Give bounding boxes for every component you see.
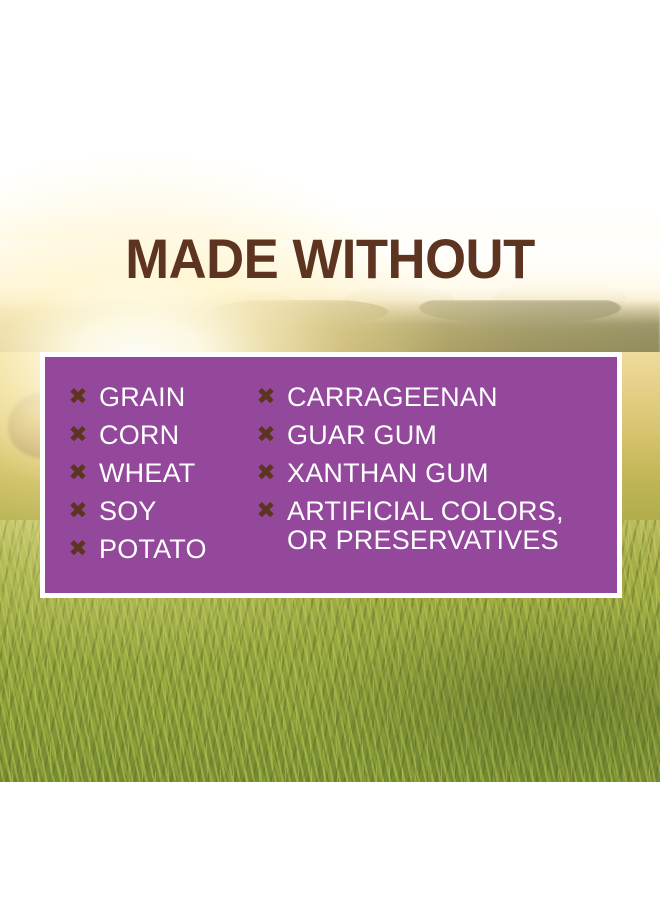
list-item: ✖ ARTIFICIAL COLORS, OR PRESERVATIVES: [255, 497, 617, 573]
list-item: ✖ POTATO: [67, 535, 255, 573]
promo-banner: MADE WITHOUT ✖ GRAIN ✖ CORN ✖ WHEAT ✖: [0, 0, 660, 900]
bottom-white-margin: [0, 782, 660, 900]
ingredient-label: SOY: [99, 497, 157, 526]
page-title: MADE WITHOUT: [20, 228, 640, 290]
cross-icon: ✖: [67, 383, 89, 411]
list-item: ✖ CARRAGEENAN: [255, 383, 617, 421]
ingredient-label: XANTHAN GUM: [287, 459, 489, 488]
ingredient-label: WHEAT: [99, 459, 196, 488]
cross-icon: ✖: [67, 459, 89, 487]
ingredient-columns: ✖ GRAIN ✖ CORN ✖ WHEAT ✖ SOY ✖ POTATO: [45, 357, 617, 593]
list-item: ✖ SOY: [67, 497, 255, 535]
cross-icon: ✖: [255, 421, 277, 449]
list-item: ✖ GRAIN: [67, 383, 255, 421]
cross-icon: ✖: [67, 535, 89, 563]
ingredient-label: CARRAGEENAN: [287, 383, 498, 412]
list-item: ✖ XANTHAN GUM: [255, 459, 617, 497]
cross-icon: ✖: [255, 459, 277, 487]
ingredient-label: CORN: [99, 421, 179, 450]
ingredient-column-left: ✖ GRAIN ✖ CORN ✖ WHEAT ✖ SOY ✖ POTATO: [45, 383, 255, 593]
list-item: ✖ WHEAT: [67, 459, 255, 497]
ingredient-column-right: ✖ CARRAGEENAN ✖ GUAR GUM ✖ XANTHAN GUM ✖…: [255, 383, 617, 593]
excluded-ingredients-panel: ✖ GRAIN ✖ CORN ✖ WHEAT ✖ SOY ✖ POTATO: [40, 352, 622, 598]
cross-icon: ✖: [255, 497, 277, 525]
ingredient-label: GUAR GUM: [287, 421, 437, 450]
cross-icon: ✖: [67, 421, 89, 449]
cross-icon: ✖: [255, 383, 277, 411]
ingredient-label: GRAIN: [99, 383, 186, 412]
ingredient-label: ARTIFICIAL COLORS, OR PRESERVATIVES: [287, 497, 564, 555]
list-item: ✖ GUAR GUM: [255, 421, 617, 459]
list-item: ✖ CORN: [67, 421, 255, 459]
ingredient-label: POTATO: [99, 535, 207, 564]
cross-icon: ✖: [67, 497, 89, 525]
